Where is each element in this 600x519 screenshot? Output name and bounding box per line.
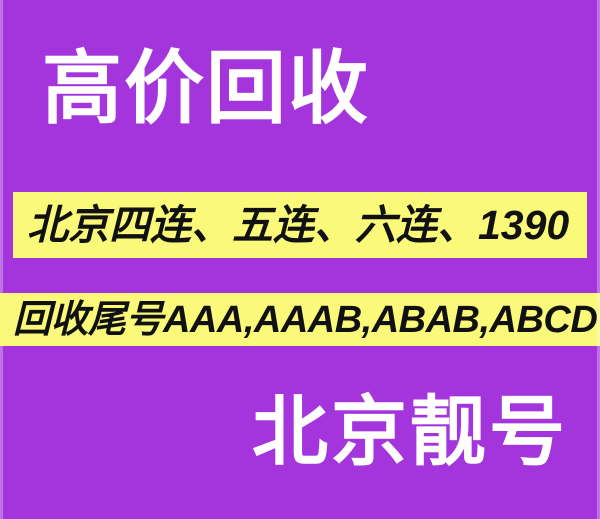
highlight-banner-primary-text: 北京四连、五连、六连、1390 [27, 205, 569, 246]
highlight-banner-primary: 北京四连、五连、六连、1390 [13, 192, 587, 258]
promo-poster: 高价回收 北京四连、五连、六连、1390 回收尾号AAA,AAAB,ABAB,A… [0, 0, 600, 519]
highlight-banner-secondary: 回收尾号AAA,AAAB,ABAB,ABCD [0, 293, 600, 346]
page-title: 高价回收 [42, 46, 562, 132]
page-subtitle: 北京靓号 [252, 392, 568, 474]
left-edge-seam [0, 0, 3, 519]
highlight-banner-secondary-text: 回收尾号AAA,AAAB,ABAB,ABCD [13, 301, 597, 339]
